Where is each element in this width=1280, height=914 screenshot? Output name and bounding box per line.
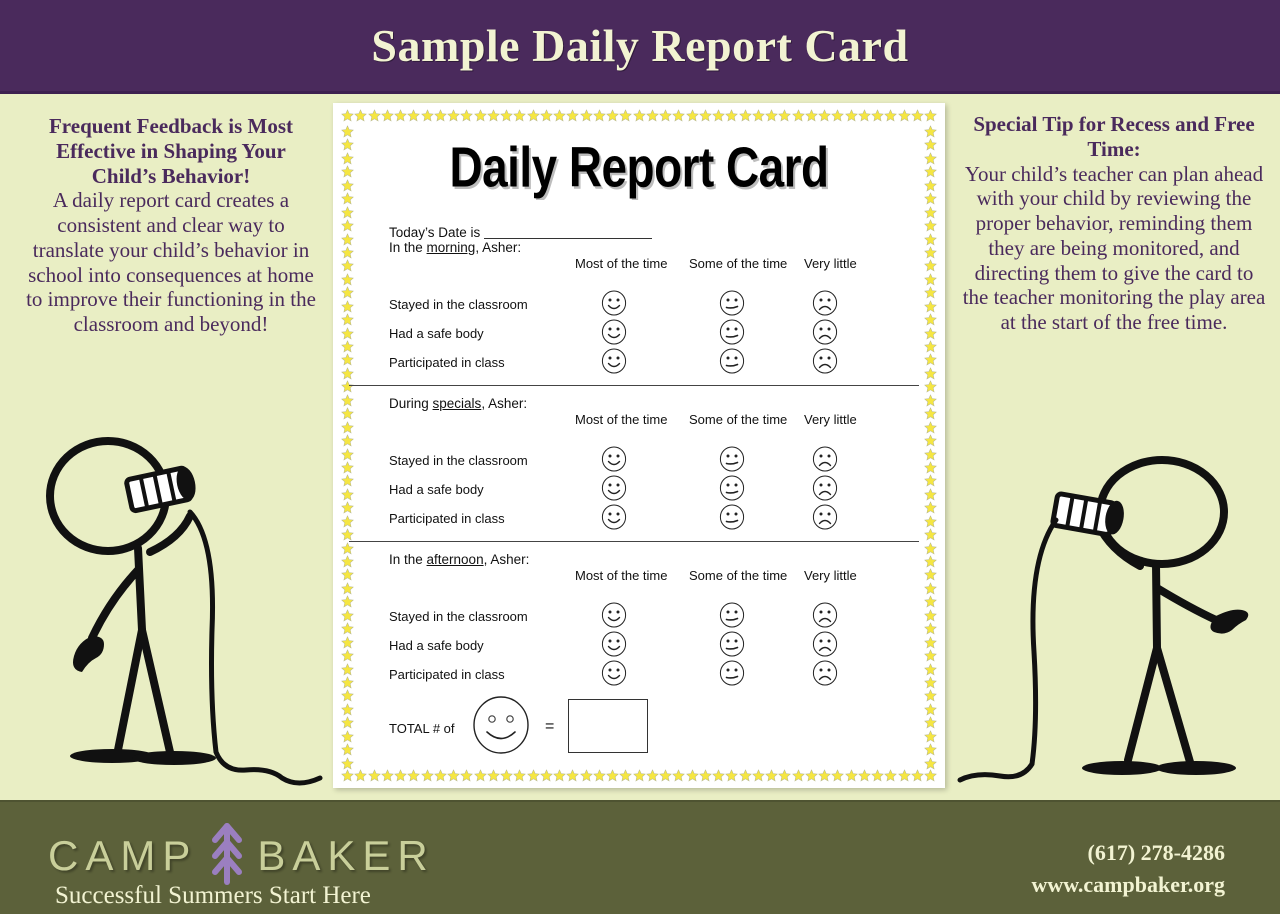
sad-face-icon[interactable] — [812, 602, 838, 633]
section-intro: In the afternoon, Asher: — [389, 552, 917, 567]
star-icon — [341, 716, 354, 729]
star-icon — [924, 367, 937, 380]
star-icon — [341, 192, 354, 205]
star-icon — [341, 595, 354, 608]
footer-contact: (617) 278-4286 www.campbaker.org — [1031, 840, 1225, 898]
date-line: Today’s Date is — [361, 225, 917, 240]
star-icon — [341, 555, 354, 568]
star-icon — [341, 730, 354, 743]
total-label: TOTAL # of — [389, 721, 455, 736]
row-label: Stayed in the classroom — [389, 609, 528, 624]
star-icon — [341, 568, 354, 581]
stick-figure-right — [950, 420, 1280, 800]
total-row: TOTAL # of = — [361, 695, 917, 769]
star-icon — [924, 300, 937, 313]
neutral-face-icon[interactable] — [719, 319, 745, 350]
star-icon — [924, 125, 937, 138]
star-icon — [341, 582, 354, 595]
star-icon — [924, 676, 937, 689]
star-icon — [341, 528, 354, 541]
star-icon — [341, 109, 354, 122]
star-icon — [924, 165, 937, 178]
total-value-box[interactable] — [568, 699, 648, 753]
star-icon — [924, 353, 937, 366]
star-icon — [341, 300, 354, 313]
right-panel-heading: Special Tip for Recess and Free Time: — [960, 112, 1268, 162]
sad-face-icon[interactable] — [812, 631, 838, 662]
neutral-face-icon[interactable] — [719, 348, 745, 379]
star-icon — [341, 515, 354, 528]
table-row: Participated in class — [389, 504, 917, 533]
star-icon — [341, 246, 354, 259]
star-icon — [924, 663, 937, 676]
sad-face-icon[interactable] — [812, 348, 838, 379]
sad-face-icon[interactable] — [812, 475, 838, 506]
column-headers: Most of the timeSome of the timeVery lit… — [389, 256, 917, 274]
section-intro-keyword: afternoon — [427, 552, 484, 567]
star-icon — [341, 421, 354, 434]
star-icon — [341, 219, 354, 232]
star-icon — [924, 595, 937, 608]
star-icon — [924, 555, 937, 568]
star-icon — [341, 434, 354, 447]
star-icon — [924, 542, 937, 555]
star-icon — [924, 192, 937, 205]
row-label: Stayed in the classroom — [389, 297, 528, 312]
section-divider — [349, 541, 919, 542]
star-icon — [341, 367, 354, 380]
star-icon — [341, 542, 354, 555]
star-icon — [341, 448, 354, 461]
star-icon — [341, 313, 354, 326]
happy-face-icon[interactable] — [601, 475, 627, 506]
row-label: Participated in class — [389, 355, 505, 370]
footer-tagline: Successful Summers Start Here — [55, 882, 371, 910]
section-2: In the afternoon, Asher:Most of the time… — [361, 552, 917, 689]
row-label: Participated in class — [389, 667, 505, 682]
star-icon — [341, 152, 354, 165]
neutral-face-icon[interactable] — [719, 290, 745, 321]
star-icon — [341, 259, 354, 272]
happy-face-icon[interactable] — [601, 446, 627, 477]
happy-face-icon[interactable] — [601, 290, 627, 321]
section-intro-keyword: specials — [433, 396, 482, 411]
star-icon — [341, 125, 354, 138]
column-header-0: Most of the time — [575, 568, 667, 583]
star-icon — [924, 769, 937, 782]
star-icon — [924, 152, 937, 165]
star-icon — [341, 622, 354, 635]
section-intro-keyword: morning — [427, 240, 476, 255]
footer-phone[interactable]: (617) 278-4286 — [1031, 840, 1225, 866]
star-icon — [924, 259, 937, 272]
star-icon — [341, 703, 354, 716]
sad-face-icon[interactable] — [812, 660, 838, 691]
table-row: Had a safe body — [389, 475, 917, 504]
star-icon — [341, 179, 354, 192]
section-intro: During specials, Asher: — [389, 396, 917, 411]
star-icon — [341, 743, 354, 756]
star-icon — [924, 434, 937, 447]
star-icon — [341, 609, 354, 622]
star-icon — [924, 233, 937, 246]
star-icon — [341, 273, 354, 286]
right-panel-body: Your child’s teacher can plan ahead with… — [960, 162, 1268, 335]
star-icon — [924, 501, 937, 514]
row-label: Had a safe body — [389, 326, 484, 341]
table-row: Had a safe body — [389, 631, 917, 660]
star-icon — [341, 636, 354, 649]
star-icon — [341, 663, 354, 676]
table-row: Participated in class — [389, 660, 917, 689]
camp-baker-logo: CAMP BAKER — [48, 820, 435, 891]
star-icon — [924, 636, 937, 649]
table-row: Participated in class — [389, 348, 917, 377]
star-icon — [924, 730, 937, 743]
pine-tree-icon — [207, 820, 247, 891]
star-icon — [924, 327, 937, 340]
happy-face-icon[interactable] — [601, 319, 627, 350]
sad-face-icon[interactable] — [812, 290, 838, 321]
star-icon — [924, 421, 937, 434]
column-header-0: Most of the time — [575, 256, 667, 271]
neutral-face-icon[interactable] — [719, 475, 745, 506]
logo-word-camp: CAMP — [48, 832, 197, 880]
star-icon — [341, 206, 354, 219]
star-icon — [924, 407, 937, 420]
table-row: Stayed in the classroom — [389, 446, 917, 475]
star-icon — [341, 488, 354, 501]
star-icon — [341, 233, 354, 246]
star-icon — [924, 474, 937, 487]
star-icon — [924, 622, 937, 635]
left-panel-heading: Frequent Feedback is Most Effective in S… — [22, 114, 320, 188]
star-icon — [341, 165, 354, 178]
star-icon — [924, 689, 937, 702]
star-icon — [924, 313, 937, 326]
page-header: Sample Daily Report Card — [0, 0, 1280, 94]
star-icon — [924, 757, 937, 770]
table-row: Stayed in the classroom — [389, 290, 917, 319]
star-icon — [341, 689, 354, 702]
left-panel-body: A daily report card creates a consistent… — [22, 188, 320, 337]
star-icon — [341, 461, 354, 474]
neutral-face-icon[interactable] — [719, 446, 745, 477]
star-icon — [924, 448, 937, 461]
star-icon — [924, 649, 937, 662]
daily-report-card: Daily Report Card Today’s Date is In the… — [333, 103, 945, 788]
star-icon — [924, 582, 937, 595]
star-icon — [924, 206, 937, 219]
happy-face-icon[interactable] — [601, 348, 627, 379]
row-label: Had a safe body — [389, 482, 484, 497]
star-icon — [341, 340, 354, 353]
star-icon — [924, 568, 937, 581]
star-icon — [924, 380, 937, 393]
right-info-panel: Special Tip for Recess and Free Time: Yo… — [960, 112, 1268, 335]
star-icon — [924, 461, 937, 474]
column-header-1: Some of the time — [689, 568, 787, 583]
star-icon — [341, 327, 354, 340]
star-icon — [341, 407, 354, 420]
table-row: Stayed in the classroom — [389, 602, 917, 631]
neutral-face-icon[interactable] — [719, 660, 745, 691]
star-icon — [341, 394, 354, 407]
star-icon — [924, 179, 937, 192]
star-border-right — [924, 125, 937, 770]
star-icon — [341, 757, 354, 770]
column-header-1: Some of the time — [689, 412, 787, 427]
column-headers: Most of the timeSome of the timeVery lit… — [389, 412, 917, 430]
total-happy-face-icon — [471, 695, 531, 760]
sad-face-icon[interactable] — [812, 319, 838, 350]
row-label: Stayed in the classroom — [389, 453, 528, 468]
star-icon — [924, 286, 937, 299]
section-1: During specials, Asher:Most of the timeS… — [361, 396, 917, 533]
left-info-panel: Frequent Feedback is Most Effective in S… — [22, 114, 320, 337]
star-icon — [924, 138, 937, 151]
date-input[interactable] — [484, 227, 652, 239]
sad-face-icon[interactable] — [812, 446, 838, 477]
table-row: Had a safe body — [389, 319, 917, 348]
stick-figure-left — [30, 420, 340, 800]
star-icon — [341, 676, 354, 689]
neutral-face-icon[interactable] — [719, 602, 745, 633]
column-header-2: Very little — [804, 568, 857, 583]
star-icon — [341, 474, 354, 487]
star-icon — [341, 286, 354, 299]
star-icon — [924, 246, 937, 259]
star-icon — [924, 394, 937, 407]
star-icon — [924, 109, 937, 122]
happy-face-icon[interactable] — [601, 504, 627, 535]
logo-word-baker: BAKER — [257, 832, 434, 880]
equals-sign: = — [545, 718, 554, 736]
star-icon — [924, 488, 937, 501]
column-header-1: Some of the time — [689, 256, 787, 271]
card-title: Daily Report Card — [355, 135, 922, 200]
happy-face-icon[interactable] — [601, 631, 627, 662]
star-icon — [924, 703, 937, 716]
star-icon — [924, 609, 937, 622]
star-icon — [341, 649, 354, 662]
page-title: Sample Daily Report Card — [371, 19, 908, 72]
column-headers: Most of the timeSome of the timeVery lit… — [389, 568, 917, 586]
star-icon — [924, 515, 937, 528]
star-icon — [924, 528, 937, 541]
page-footer: CAMP BAKER Successful Summers Start Here… — [0, 800, 1280, 914]
section-0: In the morning, Asher:Most of the timeSo… — [361, 240, 917, 377]
star-icon — [924, 743, 937, 756]
column-header-0: Most of the time — [575, 412, 667, 427]
star-icon — [924, 340, 937, 353]
happy-face-icon[interactable] — [601, 660, 627, 691]
star-icon — [341, 501, 354, 514]
column-header-2: Very little — [804, 256, 857, 271]
star-icon — [341, 769, 354, 782]
section-intro: In the morning, Asher: — [389, 240, 917, 255]
date-label: Today’s Date is — [389, 225, 480, 240]
column-header-2: Very little — [804, 412, 857, 427]
happy-face-icon[interactable] — [601, 602, 627, 633]
star-icon — [924, 219, 937, 232]
footer-website[interactable]: www.campbaker.org — [1031, 872, 1225, 898]
star-icon — [341, 380, 354, 393]
neutral-face-icon[interactable] — [719, 504, 745, 535]
star-icon — [924, 273, 937, 286]
section-divider — [349, 385, 919, 386]
sad-face-icon[interactable] — [812, 504, 838, 535]
row-label: Had a safe body — [389, 638, 484, 653]
neutral-face-icon[interactable] — [719, 631, 745, 662]
star-icon — [924, 716, 937, 729]
star-icon — [341, 353, 354, 366]
row-label: Participated in class — [389, 511, 505, 526]
star-border-left — [341, 125, 354, 770]
star-icon — [341, 138, 354, 151]
